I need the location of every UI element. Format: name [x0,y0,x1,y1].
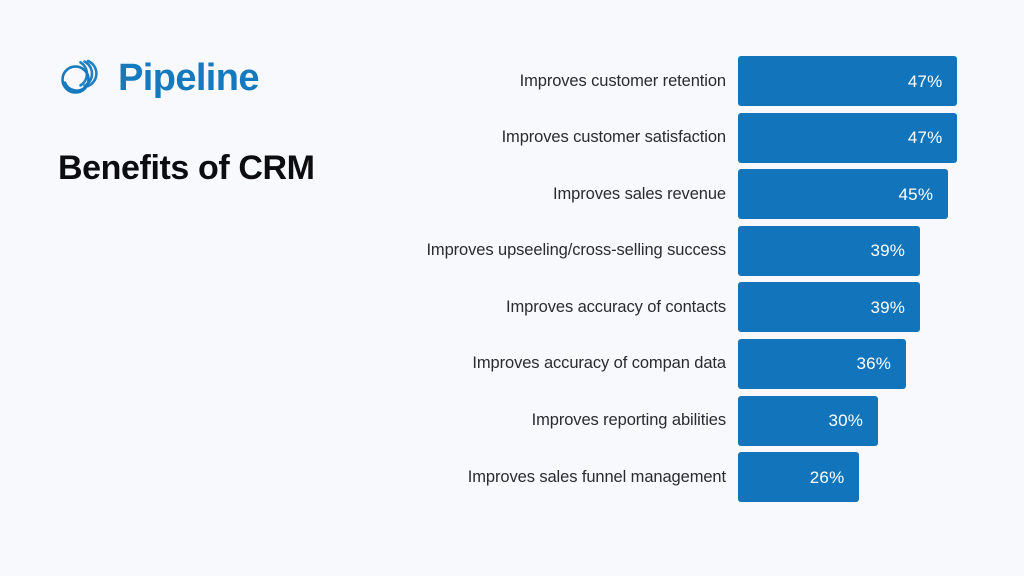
bar-value-label: 47% [908,129,943,146]
bar-fill: 45% [738,169,948,219]
bar-fill: 36% [738,339,906,389]
bar-fill: 30% [738,396,878,446]
bar-fill: 26% [738,452,859,502]
brand-lockup: Pipeline [58,50,388,106]
bar-category-label: Improves customer retention [390,56,738,106]
bar-value-label: 45% [899,186,934,203]
branding-panel: Pipeline Benefits of CRM [58,50,388,210]
bar-fill: 47% [738,56,957,106]
bar-row: Improves customer retention47% [390,56,990,106]
bar-row: Improves sales funnel management26% [390,452,990,502]
bar-value-label: 26% [810,469,845,486]
bar-row: Improves customer satisfaction47% [390,113,990,163]
bar-row: Improves upseeling/cross-selling success… [390,226,990,276]
bar-track: 30% [738,396,990,446]
bar-track: 47% [738,113,990,163]
bar-category-label: Improves sales funnel management [390,452,738,502]
bar-value-label: 36% [856,355,891,372]
bar-category-label: Improves accuracy of compan data [390,339,738,389]
bar-row: Improves reporting abilities30% [390,396,990,446]
bar-category-label: Improves customer satisfaction [390,113,738,163]
bar-track: 36% [738,339,990,389]
bar-fill: 47% [738,113,957,163]
bar-value-label: 39% [871,242,906,259]
bar-track: 39% [738,282,990,332]
bar-value-label: 39% [871,299,906,316]
bar-row: Improves accuracy of compan data36% [390,339,990,389]
bar-track: 39% [738,226,990,276]
bar-value-label: 47% [908,73,943,90]
bar-track: 26% [738,452,990,502]
pipeline-spiral-icon [58,55,104,101]
bar-row: Improves sales revenue45% [390,169,990,219]
bar-fill: 39% [738,226,920,276]
bar-category-label: Improves upseeling/cross-selling success [390,226,738,276]
bar-track: 45% [738,169,990,219]
slide-canvas: Pipeline Benefits of CRM Improves custom… [0,0,1024,576]
bar-category-label: Improves sales revenue [390,169,738,219]
bar-fill: 39% [738,282,920,332]
bar-value-label: 30% [828,412,863,429]
bar-track: 47% [738,56,990,106]
bar-row: Improves accuracy of contacts39% [390,282,990,332]
benefits-bar-chart: Improves customer retention47%Improves c… [390,56,990,502]
page-title: Benefits of CRM [58,150,388,187]
brand-wordmark: Pipeline [118,59,259,97]
bar-category-label: Improves accuracy of contacts [390,282,738,332]
bar-category-label: Improves reporting abilities [390,396,738,446]
